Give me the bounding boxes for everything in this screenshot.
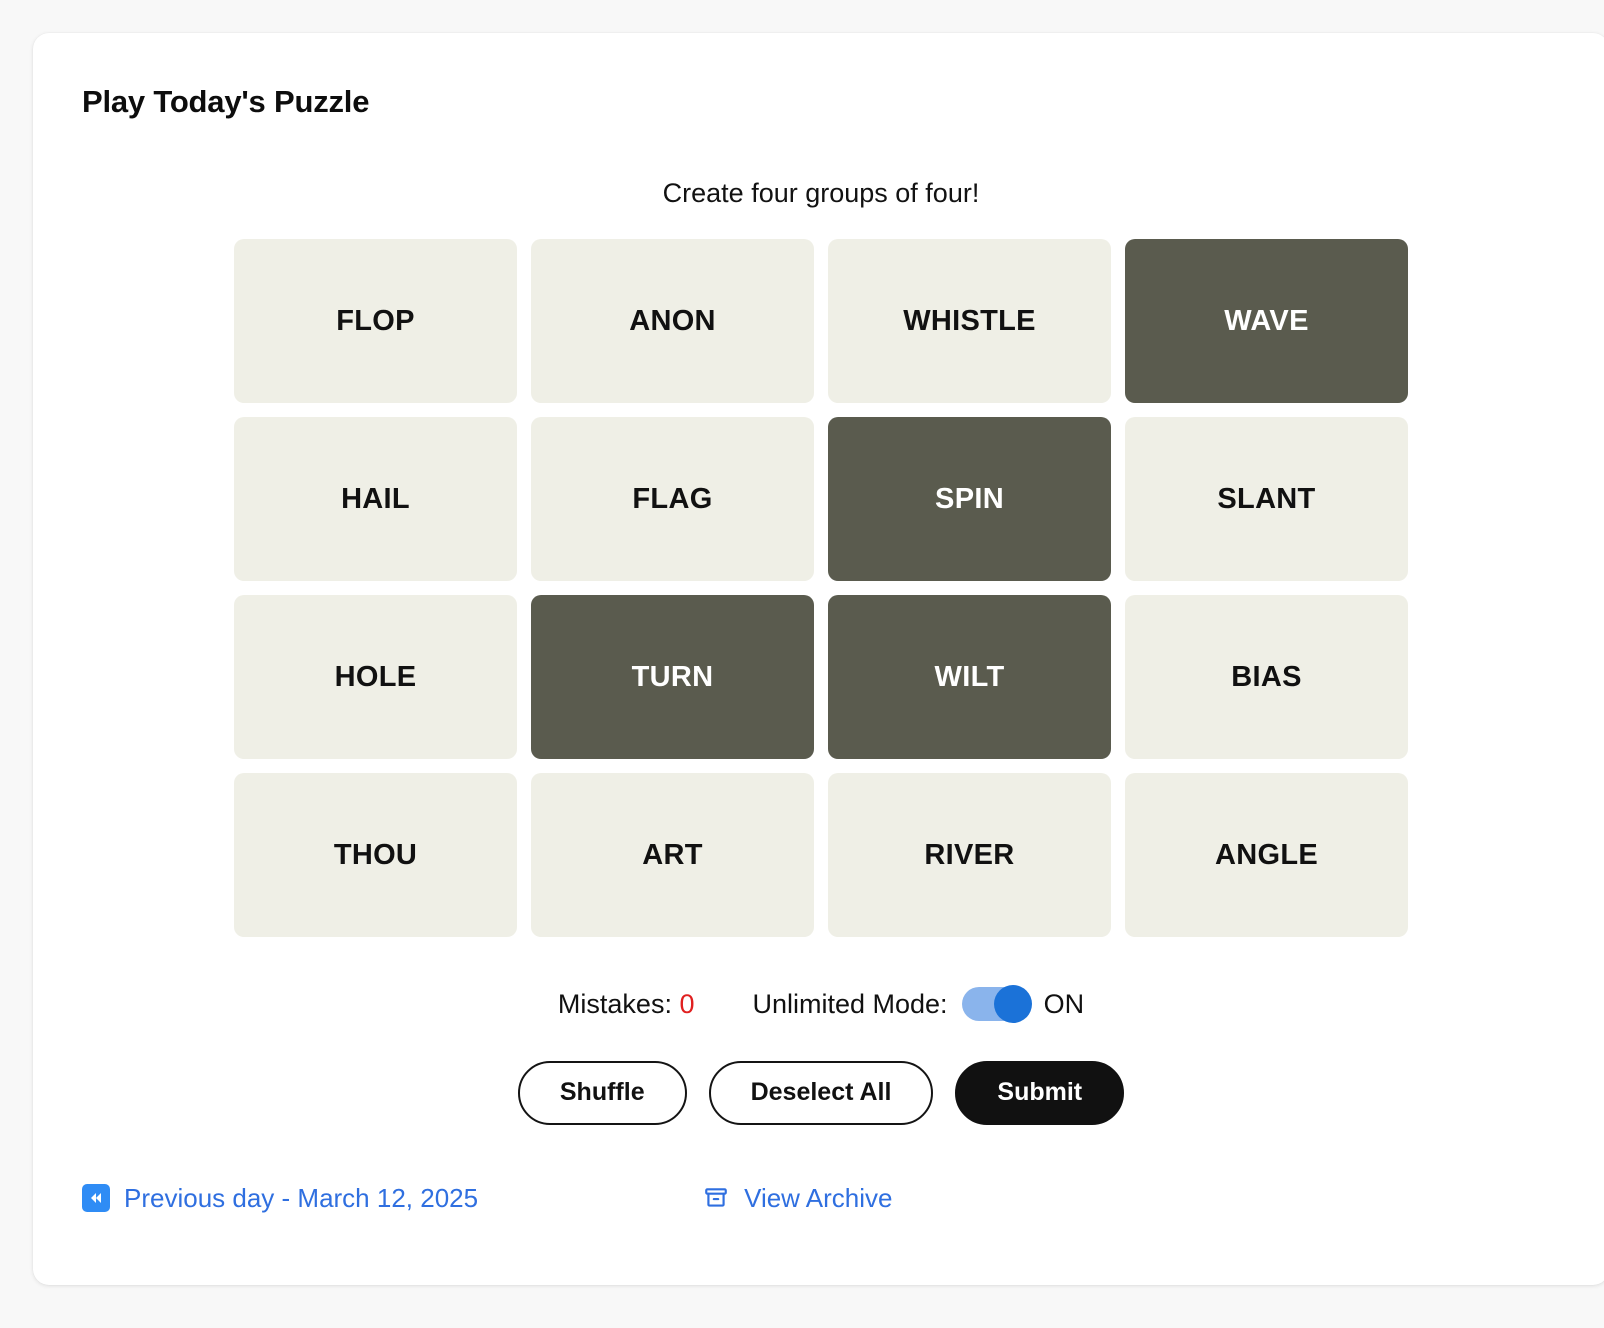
puzzle-instruction: Create four groups of four! — [33, 178, 1604, 209]
word-tile[interactable]: WILT — [828, 595, 1111, 759]
word-tile-label: ANGLE — [1215, 839, 1318, 872]
word-tile-label: FLAG — [632, 483, 712, 516]
mistakes-label: Mistakes: — [558, 989, 680, 1020]
previous-day-label: Previous day - March 12, 2025 — [124, 1183, 478, 1214]
page-root: Play Today's Puzzle Create four groups o… — [0, 0, 1604, 1328]
word-tile-label: FLOP — [336, 305, 415, 338]
word-tile[interactable]: BIAS — [1125, 595, 1408, 759]
page-title: Play Today's Puzzle — [33, 33, 1604, 120]
word-tile[interactable]: ANGLE — [1125, 773, 1408, 937]
view-archive-link[interactable]: View Archive — [702, 1183, 892, 1214]
toggle-knob — [994, 985, 1032, 1023]
unlimited-mode-toggle[interactable] — [962, 987, 1030, 1021]
shuffle-button[interactable]: Shuffle — [518, 1061, 687, 1125]
word-tile-label: BIAS — [1231, 661, 1302, 694]
word-tile-label: HOLE — [335, 661, 417, 694]
word-tile[interactable]: RIVER — [828, 773, 1111, 937]
word-tile[interactable]: WHISTLE — [828, 239, 1111, 403]
submit-button[interactable]: Submit — [955, 1061, 1124, 1125]
unlimited-mode-label: Unlimited Mode: — [752, 989, 947, 1020]
word-tile[interactable]: SPIN — [828, 417, 1111, 581]
word-tile[interactable]: SLANT — [1125, 417, 1408, 581]
word-tile[interactable]: FLOP — [234, 239, 517, 403]
word-tile[interactable]: FLAG — [531, 417, 814, 581]
archive-box-icon — [702, 1184, 730, 1212]
word-tile-label: HAIL — [341, 483, 410, 516]
previous-day-link[interactable]: Previous day - March 12, 2025 — [82, 1183, 478, 1214]
word-tile[interactable]: ANON — [531, 239, 814, 403]
word-tile[interactable]: HAIL — [234, 417, 517, 581]
word-tile-label: ANON — [629, 305, 716, 338]
word-tile-label: THOU — [334, 839, 417, 872]
word-tile[interactable]: WAVE — [1125, 239, 1408, 403]
word-tile-label: TURN — [632, 661, 714, 694]
unlimited-mode-state: ON — [1044, 989, 1085, 1020]
status-row: Mistakes: 0 Unlimited Mode: ON — [33, 987, 1604, 1021]
puzzle-area: Create four groups of four! FLOP ANON WH… — [33, 178, 1604, 1125]
word-tile-label: SPIN — [935, 483, 1004, 516]
word-tile[interactable]: ART — [531, 773, 814, 937]
mistakes-count: 0 — [679, 989, 694, 1020]
word-tile-label: WHISTLE — [903, 305, 1036, 338]
word-tile-label: WILT — [935, 661, 1005, 694]
unlimited-mode-control: Unlimited Mode: ON — [752, 987, 1084, 1021]
view-archive-label: View Archive — [744, 1183, 892, 1214]
word-tile-label: WAVE — [1224, 305, 1308, 338]
word-tile[interactable]: THOU — [234, 773, 517, 937]
card-footer: Previous day - March 12, 2025 View Archi… — [33, 1183, 1604, 1214]
action-buttons: Shuffle Deselect All Submit — [33, 1061, 1604, 1125]
mistakes-counter: Mistakes: 0 — [558, 989, 695, 1020]
word-tile-label: ART — [642, 839, 703, 872]
word-tile-label: RIVER — [924, 839, 1014, 872]
puzzle-card: Play Today's Puzzle Create four groups o… — [33, 33, 1604, 1285]
word-tile-label: SLANT — [1217, 483, 1315, 516]
word-grid: FLOP ANON WHISTLE WAVE HAIL FLAG SPIN SL… — [33, 239, 1604, 937]
rewind-icon — [82, 1184, 110, 1212]
word-tile[interactable]: HOLE — [234, 595, 517, 759]
deselect-all-button[interactable]: Deselect All — [709, 1061, 934, 1125]
word-tile[interactable]: TURN — [531, 595, 814, 759]
